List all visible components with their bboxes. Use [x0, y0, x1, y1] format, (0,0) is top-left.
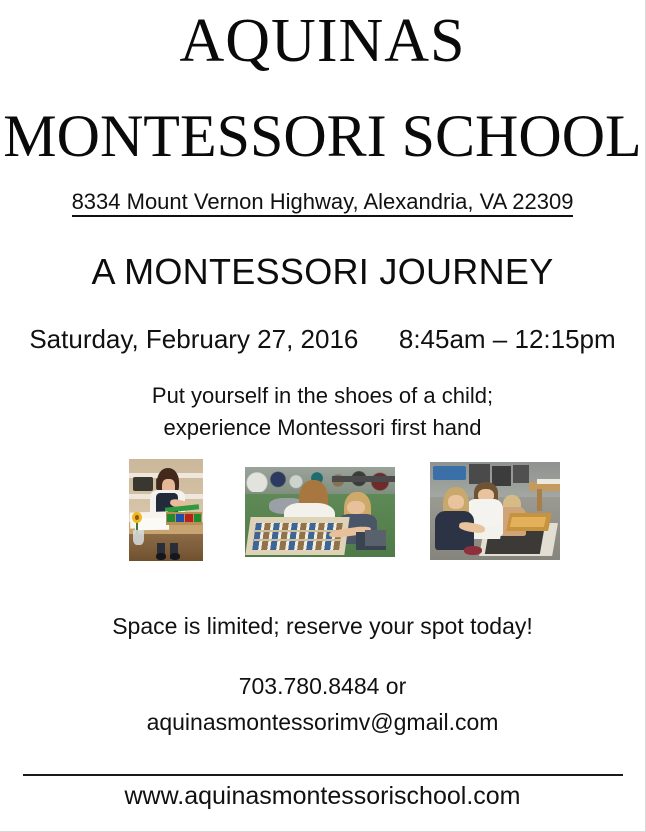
reserve-note: Space is limited; reserve your spot toda…	[0, 610, 645, 642]
photo-children-on-floor-with-wooden-material	[430, 462, 560, 560]
event-title: A MONTESSORI JOURNEY	[0, 250, 645, 294]
event-date: Saturday, February 27, 2016	[29, 324, 358, 354]
tagline-line-1: Put yourself in the shoes of a child;	[0, 380, 645, 412]
contact-email: aquinasmontessorimv@gmail.com	[0, 704, 645, 740]
footer-divider-rule	[23, 774, 623, 776]
school-name-line-2: MONTESSORI SCHOOL	[0, 103, 645, 169]
photo-child-at-desk-with-color-tablets	[129, 459, 203, 561]
photo-two-girls-on-green-floor-with-mat-material	[245, 467, 395, 557]
contact-phone: 703.780.8484 or	[0, 668, 645, 704]
event-time: 8:45am – 12:15pm	[399, 324, 616, 354]
tagline-line-2: experience Montessori first hand	[0, 412, 645, 444]
flyer-page: AQUINAS MONTESSORI SCHOOL 8334 Mount Ver…	[0, 0, 646, 832]
school-name-line-1: AQUINAS	[0, 6, 645, 76]
school-address: 8334 Mount Vernon Highway, Alexandria, V…	[0, 188, 645, 216]
website-url: www.aquinasmontessorischool.com	[0, 779, 645, 813]
event-datetime: Saturday, February 27, 2016 8:45am – 12:…	[0, 322, 645, 356]
school-address-text: 8334 Mount Vernon Highway, Alexandria, V…	[72, 189, 574, 217]
contact-block: 703.780.8484 or aquinasmontessorimv@gmai…	[0, 668, 645, 740]
event-tagline: Put yourself in the shoes of a child; ex…	[0, 380, 645, 444]
